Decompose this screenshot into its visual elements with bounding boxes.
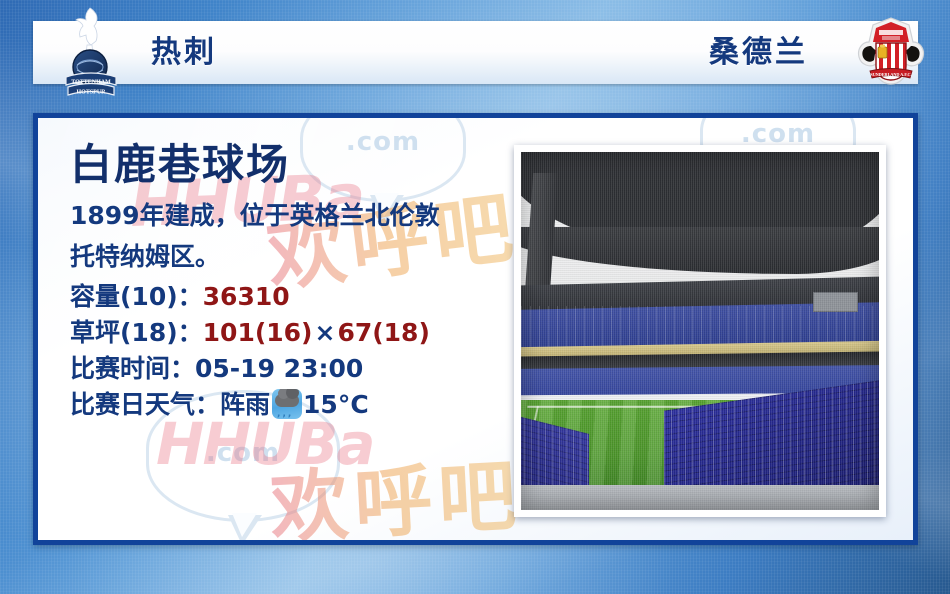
pitch-width-value: 67(18)	[337, 318, 429, 347]
match-time-row: 比赛时间：05-19 23:00	[70, 351, 490, 387]
stadium-description-line-2: 托特纳姆区。	[70, 239, 490, 276]
photo-scoreboard	[813, 292, 858, 312]
home-team-name: 热刺	[151, 38, 217, 68]
svg-text:SUNDERLAND A.F.C.: SUNDERLAND A.F.C.	[870, 72, 911, 77]
svg-text:TOTTENHAM: TOTTENHAM	[71, 80, 111, 86]
stadium-title: 白鹿巷球场	[70, 142, 490, 188]
stadium-photo	[521, 152, 879, 510]
app-root: 热刺 桑德兰 TOTTENHAM HO	[0, 0, 950, 594]
weather-row: 比赛日天气：阵雨,,,15°C	[70, 387, 490, 423]
rain-shower-icon: ,,,	[272, 389, 302, 419]
stadium-info-panel: .com .com .com HHUBa HHUBa HHUBa 欢呼吧 欢呼吧…	[33, 113, 918, 545]
match-time-label: 比赛时间：	[70, 354, 195, 383]
svg-text:HOTSPUR: HOTSPUR	[76, 90, 106, 96]
tottenham-hotspur-crest-icon: TOTTENHAM HOTSPUR	[62, 5, 120, 101]
pitch-label: 草坪(18)：	[70, 318, 203, 347]
stadium-description-line-1: 1899年建成，位于英格兰北伦敦	[70, 198, 490, 235]
capacity-value: 36310	[203, 282, 290, 311]
watermark-brand-cn-text-2: 欢呼吧	[268, 451, 524, 545]
sunderland-afc-crest-icon: SUNDERLAND A.F.C.	[854, 16, 928, 86]
match-time-value: 05-19 23:00	[195, 354, 363, 383]
capacity-row: 容量(10)：36310	[70, 279, 490, 315]
home-team-block: 热刺	[151, 21, 217, 84]
pitch-length-value: 101(16)	[203, 318, 313, 347]
weather-condition: 阵雨	[220, 390, 270, 419]
watermark-bubble-text-3: .com	[206, 438, 280, 468]
match-header-bar: 热刺 桑德兰	[33, 21, 918, 84]
away-team-block: 桑德兰	[709, 21, 808, 84]
watermark-brand-cn-bottom: 欢呼吧	[267, 433, 525, 545]
stadium-text-column: 白鹿巷球场 1899年建成，位于英格兰北伦敦 托特纳姆区。 容量(10)：363…	[70, 142, 490, 423]
pitch-dimension-separator: ×	[312, 318, 337, 347]
stadium-photo-frame	[514, 145, 886, 517]
weather-temperature: 15°C	[303, 390, 369, 419]
pitch-row: 草坪(18)：101(16)×67(18)	[70, 315, 490, 351]
capacity-label: 容量(10)：	[70, 282, 203, 311]
away-team-name: 桑德兰	[709, 38, 808, 68]
weather-label: 比赛日天气：	[70, 390, 220, 419]
photo-walkway	[521, 485, 879, 510]
